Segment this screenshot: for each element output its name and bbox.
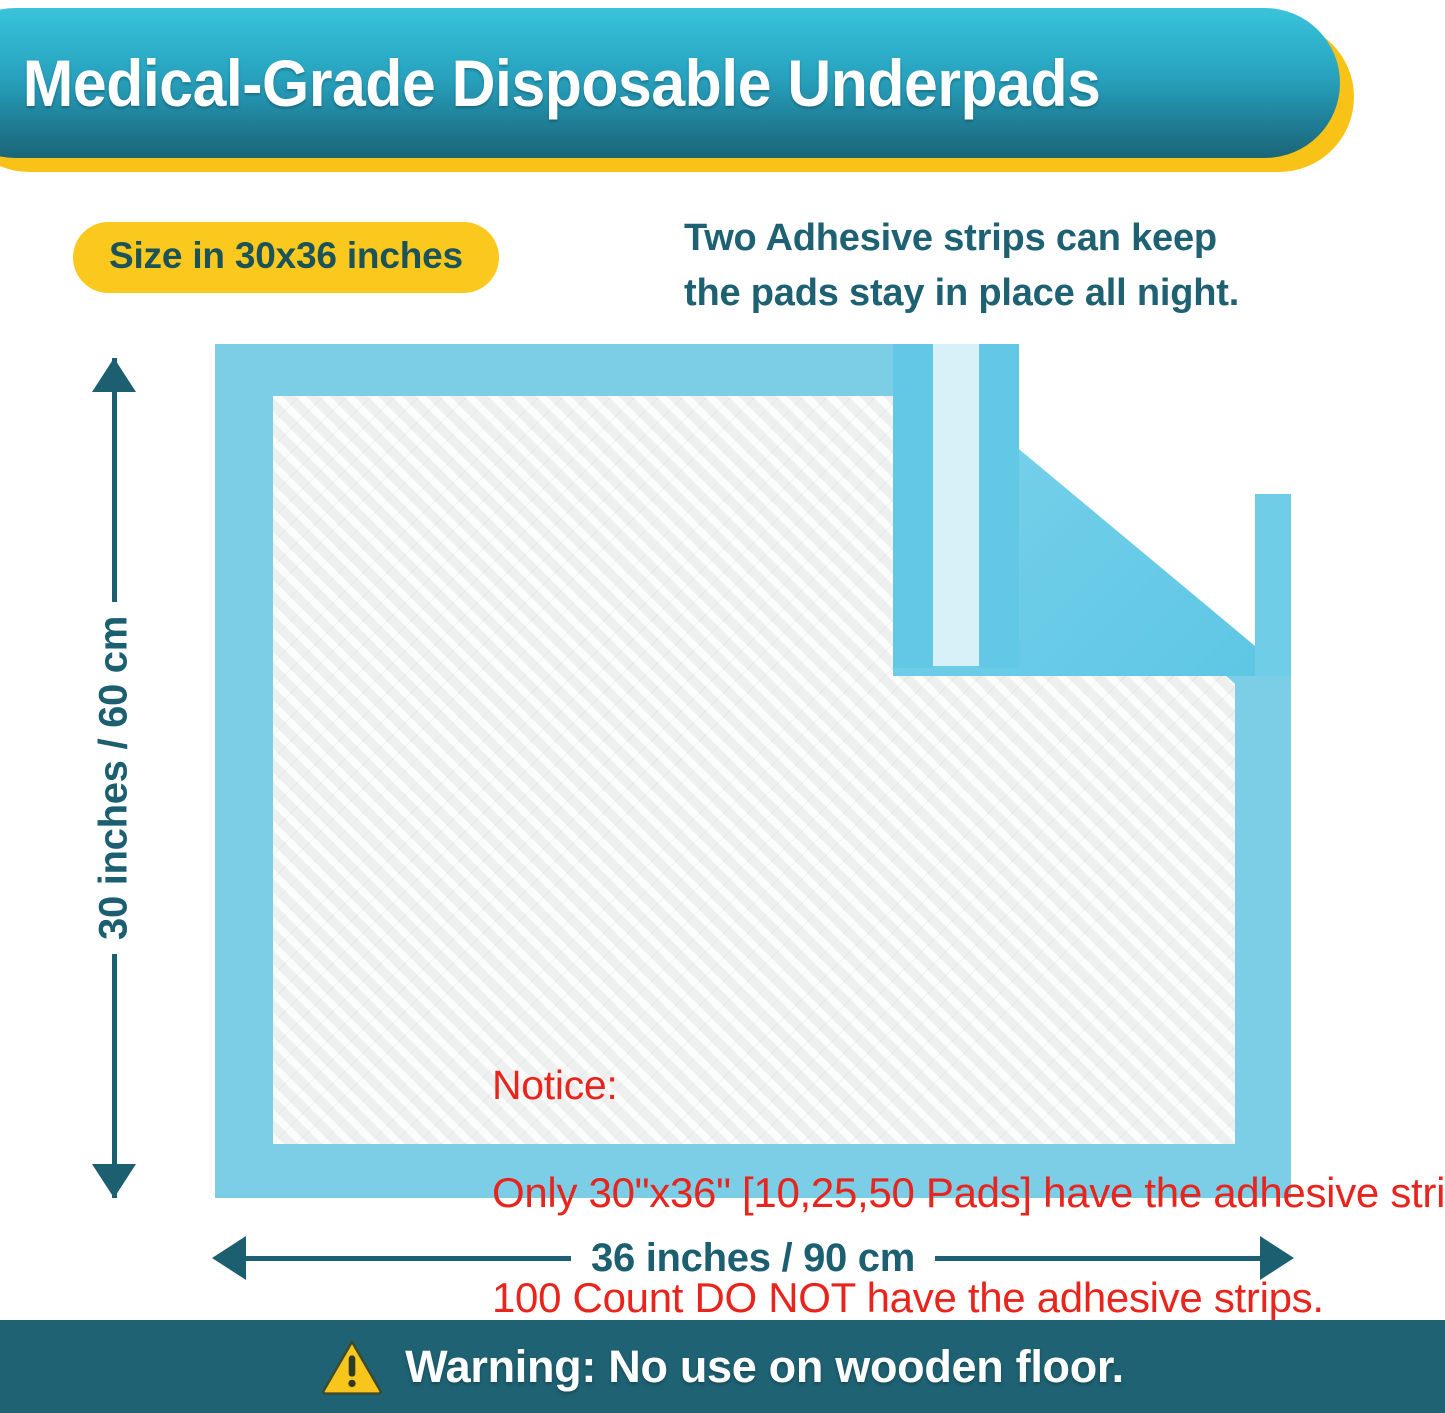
underpad-product-image: Notice: Only 30"x36" [10,25,50 Pads] hav…	[215, 344, 1291, 1198]
adhesive-note-line-1: Two Adhesive strips can keep	[684, 211, 1364, 266]
horizontal-dimension-label: 36 inches / 90 cm	[571, 1236, 935, 1281]
folded-corner-blue-strip-2	[979, 344, 1019, 668]
horizontal-dimension-arrow: 36 inches / 90 cm	[212, 1228, 1294, 1288]
adhesive-strips-note: Two Adhesive strips can keep the pads st…	[684, 211, 1364, 321]
horizontal-arrow-line-right	[935, 1256, 1260, 1261]
folded-corner-blue-strip-1	[893, 344, 933, 668]
arrow-head-up-icon	[92, 358, 136, 392]
notice-line-1: Only 30"x36" [10,25,50 Pads] have the ad…	[492, 1169, 1445, 1217]
adhesive-strip	[933, 344, 979, 666]
pad-folded-corner	[893, 344, 1291, 676]
folded-corner-edge	[1255, 494, 1291, 676]
warning-text: Warning: No use on wooden floor.	[405, 1341, 1124, 1393]
vertical-dimension-arrow: 30 inches / 60 cm	[84, 358, 144, 1198]
notice-heading: Notice:	[492, 1062, 1445, 1109]
page-title: Medical-Grade Disposable Underpads	[0, 45, 1100, 121]
warning-footer-bar: Warning: No use on wooden floor.	[0, 1320, 1445, 1413]
header-banner-bar: Medical-Grade Disposable Underpads	[0, 8, 1340, 158]
arrow-head-right-icon	[1260, 1236, 1294, 1280]
warning-triangle-icon	[321, 1339, 383, 1395]
size-badge: Size in 30x36 inches	[73, 222, 499, 293]
header-banner: Medical-Grade Disposable Underpads	[0, 8, 1340, 158]
adhesive-note-line-2: the pads stay in place all night.	[684, 266, 1364, 321]
vertical-dimension-label: 30 inches / 60 cm	[92, 602, 137, 954]
horizontal-arrow-line-left	[246, 1256, 571, 1261]
arrow-head-left-icon	[212, 1236, 246, 1280]
arrow-head-down-icon	[92, 1164, 136, 1198]
